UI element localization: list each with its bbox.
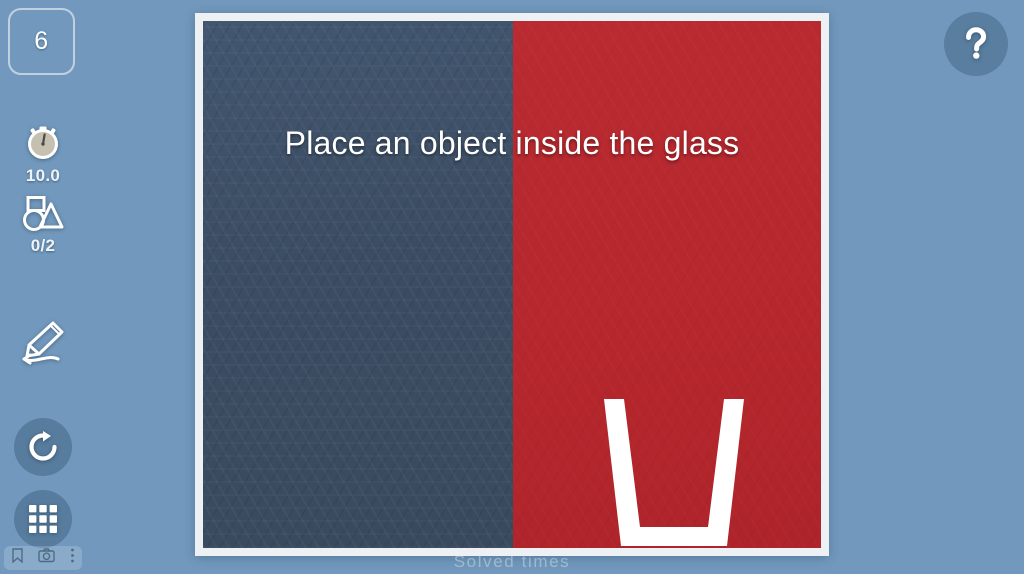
restart-button[interactable] bbox=[14, 418, 72, 476]
level-number: 6 bbox=[34, 27, 48, 56]
question-mark-icon bbox=[962, 27, 990, 61]
timer-stat: 10.0 bbox=[0, 118, 86, 186]
puzzle-prompt: Place an object inside the glass bbox=[203, 125, 821, 162]
solved-status: Solved times bbox=[0, 552, 1024, 572]
game-screen: 6 10.0 0/2 bbox=[0, 0, 1024, 574]
timer-value: 10.0 bbox=[26, 166, 60, 186]
objects-value: 0/2 bbox=[31, 236, 56, 256]
pencil-icon bbox=[17, 314, 69, 366]
help-button[interactable] bbox=[944, 12, 1008, 76]
grid-icon bbox=[28, 504, 58, 534]
glass-object[interactable] bbox=[601, 399, 747, 548]
left-region[interactable] bbox=[203, 21, 513, 548]
puzzle-panel[interactable]: Place an object inside the glass bbox=[195, 13, 829, 556]
restart-icon bbox=[26, 430, 60, 464]
level-badge[interactable]: 6 bbox=[8, 8, 75, 75]
draw-tool-button[interactable] bbox=[0, 305, 86, 375]
level-select-button[interactable] bbox=[14, 490, 72, 548]
objects-stat: 0/2 bbox=[0, 194, 86, 256]
shapes-icon bbox=[19, 194, 67, 234]
puzzle-canvas[interactable]: Place an object inside the glass bbox=[203, 21, 821, 548]
stopwatch-icon bbox=[20, 118, 66, 164]
